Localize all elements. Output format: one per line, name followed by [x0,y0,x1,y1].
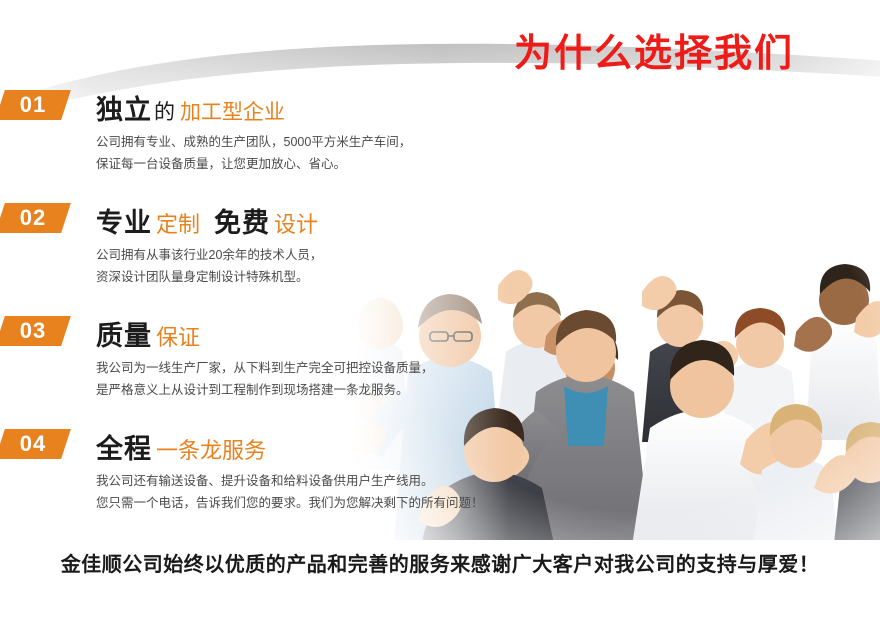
feature-heading: 01 独立的加工型企业 [96,88,470,124]
badge-number: 01 [0,90,66,120]
number-badge-01: 01 [0,90,71,120]
number-badge-02: 02 [0,203,71,233]
feature-title-main: 专业 [96,208,152,238]
footer-tagline: 金佳顺公司始终以优质的产品和完善的服务来感谢广大客户对我公司的支持与厚爱！ [0,548,880,577]
feature-body-line: 保证每一台设备质量，让您更加放心、省心。 [96,153,470,175]
feature-list: 01 独立的加工型企业 公司拥有专业、成熟的生产团队，5000平方米生产车间， … [0,88,470,540]
feature-title-accent: 一条龙服务 [152,438,266,463]
feature-title-main: 质量 [96,321,152,351]
badge-number: 02 [0,203,66,233]
feature-title-accent: 定制 [152,212,200,237]
feature-title-main: 独立 [96,95,152,125]
feature-title-accent-2: 设计 [270,212,318,237]
feature-body-line: 公司拥有从事该行业20余年的技术人员， [96,244,470,266]
feature-heading: 04 全程一条龙服务 [96,427,470,463]
badge-number: 03 [0,316,66,346]
badge-number: 04 [0,429,66,459]
feature-body-line: 资深设计团队量身定制设计特殊机型。 [96,266,470,288]
feature-title-accent: 加工型企业 [177,101,285,124]
feature-item-04: 04 全程一条龙服务 我公司还有输送设备、提升设备和给料设备供用户生产线用。 您… [0,427,470,514]
feature-body-line: 是严格意义上从设计到工程制作到现场搭建一条龙服务。 [96,379,470,401]
feature-body: 公司拥有从事该行业20余年的技术人员， 资深设计团队量身定制设计特殊机型。 [96,244,470,288]
number-badge-04: 04 [0,429,71,459]
feature-body-line: 您只需一个电话，告诉我们您的要求。我们为您解决剩下的所有问题！ [96,492,470,514]
page-title: 为什么选择我们 [514,22,794,77]
feature-body-line: 我公司还有输送设备、提升设备和给料设备供用户生产线用。 [96,470,470,492]
feature-item-02: 02 专业定制免费设计 公司拥有从事该行业20余年的技术人员， 资深设计团队量身… [0,201,470,288]
feature-body-line: 公司拥有专业、成熟的生产团队，5000平方米生产车间， [96,131,470,153]
feature-body-line: 我公司为一线生产厂家，从下料到生产完全可把控设备质量， [96,357,470,379]
feature-body: 公司拥有专业、成熟的生产团队，5000平方米生产车间， 保证每一台设备质量，让您… [96,131,470,175]
feature-body: 我公司还有输送设备、提升设备和给料设备供用户生产线用。 您只需一个电话，告诉我们… [96,470,470,514]
promo-banner: 为什么选择我们 [0,0,880,626]
feature-item-03: 03 质量保证 我公司为一线生产厂家，从下料到生产完全可把控设备质量， 是严格意… [0,314,470,401]
feature-title-main-2: 免费 [214,208,270,238]
feature-title-main: 全程 [96,434,152,464]
feature-body: 我公司为一线生产厂家，从下料到生产完全可把控设备质量， 是严格意义上从设计到工程… [96,357,470,401]
number-badge-03: 03 [0,316,71,346]
feature-heading: 03 质量保证 [96,314,470,350]
feature-item-01: 01 独立的加工型企业 公司拥有专业、成熟的生产团队，5000平方米生产车间， … [0,88,470,175]
feature-title-mid: 的 [152,101,177,124]
feature-title-accent: 保证 [152,325,200,350]
feature-heading: 02 专业定制免费设计 [96,201,470,237]
